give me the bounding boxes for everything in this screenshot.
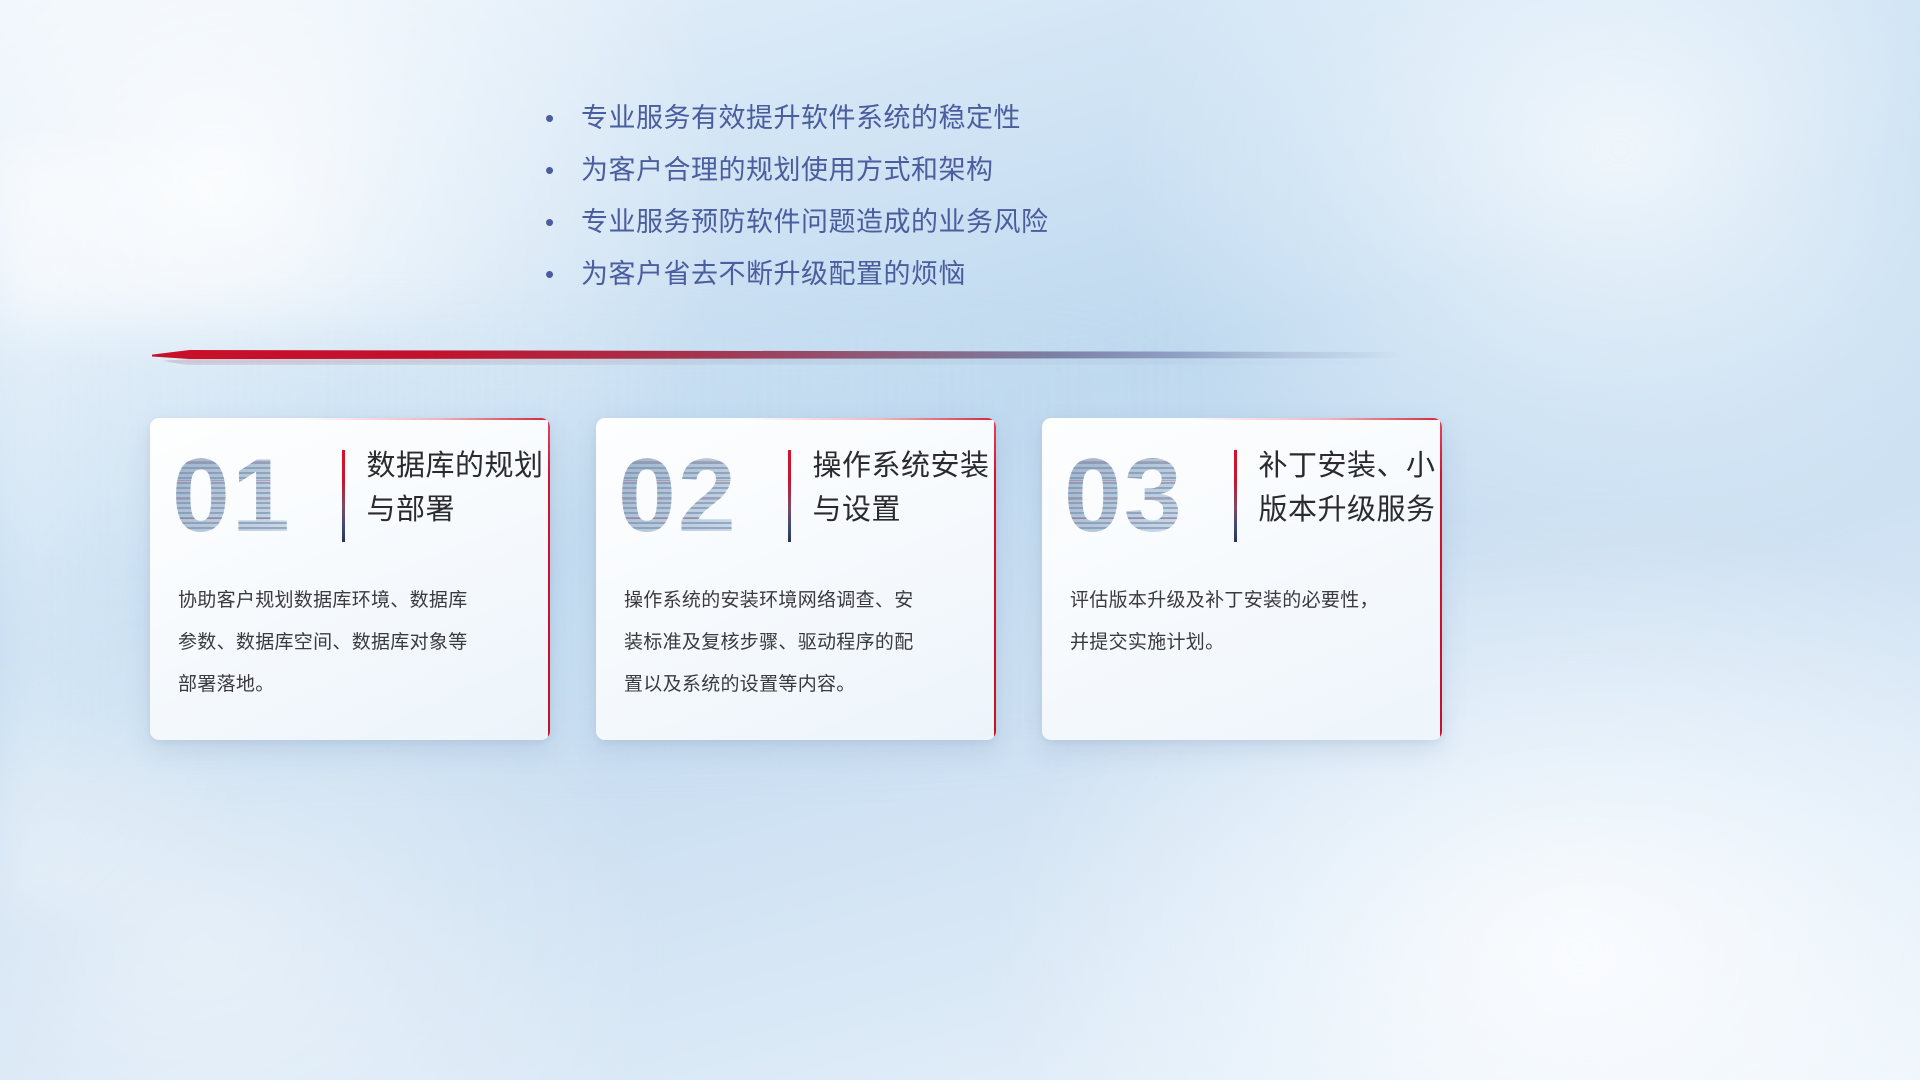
card-body-text: 评估版本升级及补丁安装的必要性， 并提交实施计划。 — [1070, 580, 1414, 664]
card-title-accent-bar — [1234, 450, 1237, 542]
service-card[interactable]: 02 02 操作系统安装 与设置 操作系统的安装环境网络调查、安 装标准及复核步… — [596, 418, 996, 740]
card-number-watermark: 02 — [618, 442, 768, 550]
card-body-text: 操作系统的安装环境网络调查、安 装标准及复核步骤、驱动程序的配 置以及系统的设置… — [624, 580, 968, 706]
divider-line — [152, 350, 1400, 359]
service-card-header: 02 02 操作系统安装 与设置 — [596, 418, 996, 568]
bullet-text: 为客户省去不断升级配置的烦恼 — [581, 248, 966, 300]
card-title-group: 操作系统安装 与设置 — [788, 444, 990, 542]
bullet-text: 专业服务有效提升软件系统的稳定性 — [581, 92, 1021, 144]
card-number-watermark: 01 — [172, 442, 322, 550]
card-number-watermark: 03 — [1064, 442, 1214, 550]
divider-shadow — [162, 358, 1398, 365]
card-title: 补丁安装、小 版本升级服务 — [1259, 444, 1436, 532]
card-title: 操作系统安装 与设置 — [813, 444, 990, 532]
bullet-item: • 为客户合理的规划使用方式和架构 — [545, 144, 1305, 196]
card-title: 数据库的规划 与部署 — [367, 444, 544, 532]
card-number-watermark-tint: 02 — [618, 442, 768, 550]
benefit-bullet-list: • 专业服务有效提升软件系统的稳定性 • 为客户合理的规划使用方式和架构 • 专… — [545, 92, 1305, 300]
card-title-group: 数据库的规划 与部署 — [342, 444, 544, 542]
service-card-header: 03 03 补丁安装、小 版本升级服务 — [1042, 418, 1442, 568]
card-title-accent-bar — [788, 450, 791, 542]
section-divider — [152, 348, 1400, 366]
bullet-dot-icon: • — [545, 92, 581, 144]
bullet-item: • 专业服务有效提升软件系统的稳定性 — [545, 92, 1305, 144]
card-title-group: 补丁安装、小 版本升级服务 — [1234, 444, 1436, 542]
card-number-watermark-tint: 03 — [1064, 442, 1214, 550]
bullet-dot-icon: • — [545, 196, 581, 248]
bullet-text: 专业服务预防软件问题造成的业务风险 — [581, 196, 1049, 248]
bullet-item: • 专业服务预防软件问题造成的业务风险 — [545, 196, 1305, 248]
bullet-dot-icon: • — [545, 248, 581, 300]
bullet-text: 为客户合理的规划使用方式和架构 — [581, 144, 994, 196]
card-title-accent-bar — [342, 450, 345, 542]
service-card[interactable]: 01 01 数据库的规划 与部署 协助客户规划数据库环境、数据库 参数、数据库空… — [150, 418, 550, 740]
service-card-header: 01 01 数据库的规划 与部署 — [150, 418, 550, 568]
card-body-text: 协助客户规划数据库环境、数据库 参数、数据库空间、数据库对象等 部署落地。 — [178, 580, 522, 706]
bullet-dot-icon: • — [545, 144, 581, 196]
card-number-watermark-tint: 01 — [172, 442, 322, 550]
service-card[interactable]: 03 03 补丁安装、小 版本升级服务 评估版本升级及补丁安装的必要性， 并提交… — [1042, 418, 1442, 740]
bullet-item: • 为客户省去不断升级配置的烦恼 — [545, 248, 1305, 300]
service-card-row: 01 01 数据库的规划 与部署 协助客户规划数据库环境、数据库 参数、数据库空… — [150, 418, 1770, 744]
